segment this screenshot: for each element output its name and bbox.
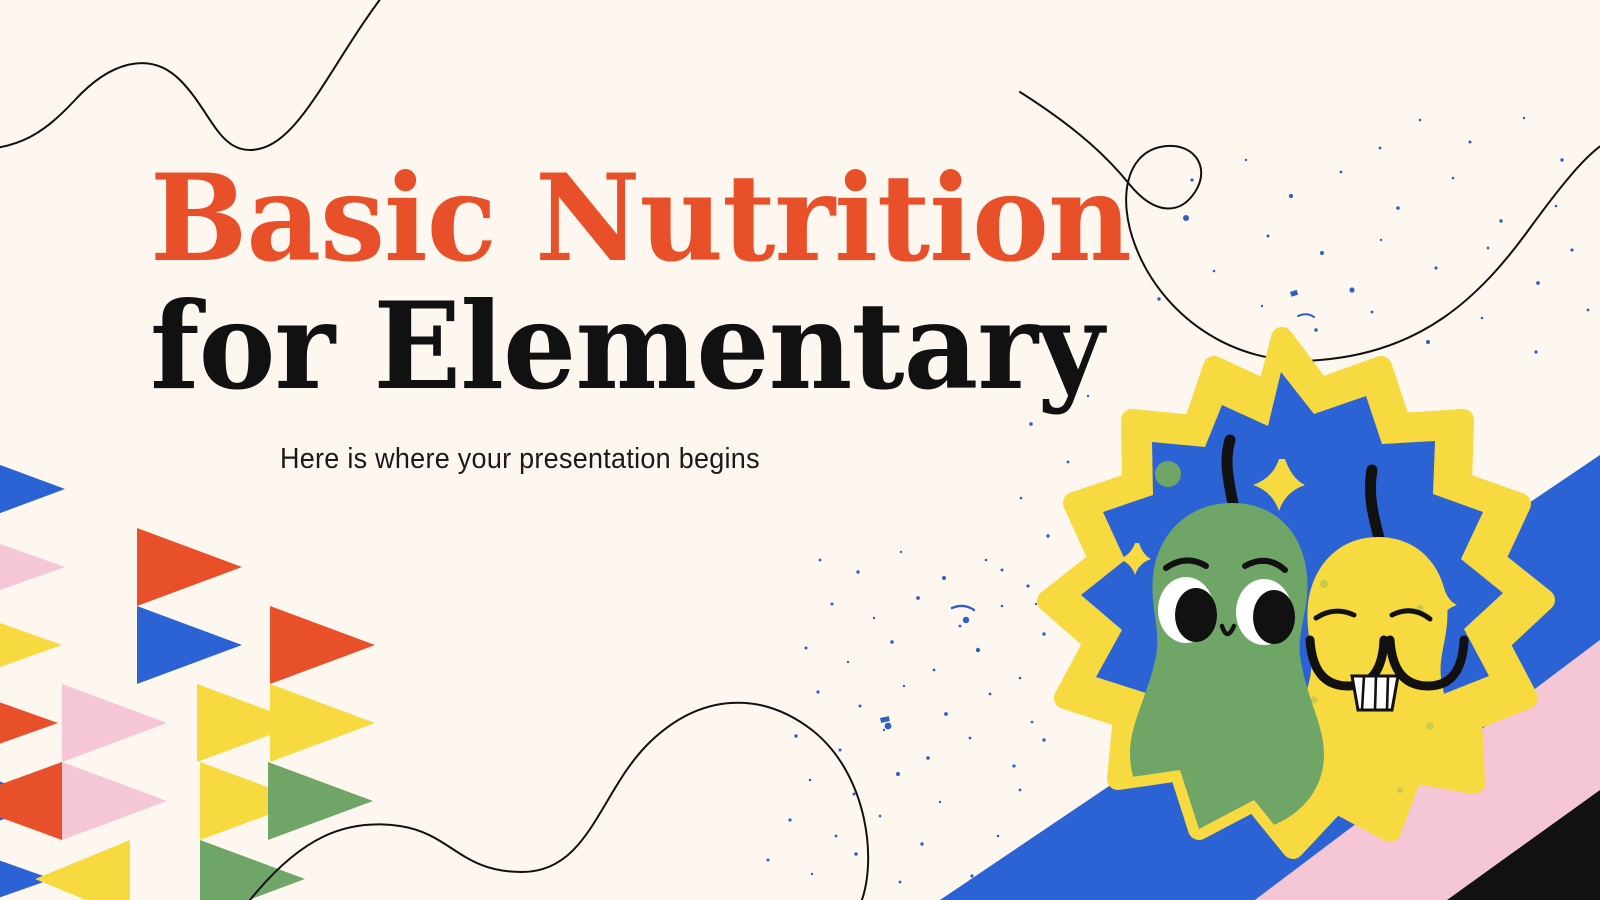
yellow-pear-teeth bbox=[1352, 676, 1398, 710]
sparkle-icon bbox=[1253, 459, 1305, 511]
green-pear-pupil-left bbox=[1175, 588, 1217, 642]
black-corner-triangle bbox=[1447, 790, 1600, 900]
bottom-center-wave-icon bbox=[250, 703, 868, 900]
green-pear-mouth bbox=[1222, 626, 1234, 634]
yellow-pear-eye-right bbox=[1390, 640, 1464, 686]
triangle-cell bbox=[0, 606, 62, 684]
triangle-cell bbox=[62, 762, 167, 840]
green-pear-pupil-right bbox=[1253, 590, 1295, 644]
yellow-pear-eye-left bbox=[1310, 640, 1384, 686]
triangle-cell bbox=[0, 684, 58, 762]
pink-diagonal-band bbox=[1255, 640, 1600, 900]
triangle-cell bbox=[0, 762, 62, 840]
green-pear-body bbox=[1130, 503, 1324, 834]
badge-dot bbox=[1155, 461, 1181, 487]
badge-dot bbox=[1276, 727, 1300, 751]
triangle-cell bbox=[35, 840, 130, 900]
title-block: Basic Nutrition for Elementary Here is w… bbox=[150, 160, 1050, 476]
page-title-line-1: Basic Nutrition bbox=[150, 160, 1014, 278]
badge-star-border bbox=[1048, 338, 1544, 848]
green-pear-character bbox=[1130, 440, 1324, 834]
blue-diagonal-band bbox=[940, 455, 1600, 900]
yellow-pear-eyebrow-right bbox=[1392, 611, 1430, 619]
triangle-cell bbox=[0, 450, 65, 528]
triangle-cell bbox=[62, 684, 167, 762]
green-pear-eyebrow-right bbox=[1245, 561, 1285, 570]
yellow-pear-eyebrow-left bbox=[1316, 611, 1354, 618]
green-pear-eye-white-left bbox=[1158, 577, 1214, 643]
sparkle-icon bbox=[1119, 543, 1151, 575]
sparkle-icon bbox=[1423, 588, 1457, 622]
yellow-pear-stem bbox=[1370, 470, 1379, 538]
presentation-slide: Basic Nutrition for Elementary Here is w… bbox=[0, 0, 1600, 900]
page-title-line-2: for Elementary bbox=[150, 288, 1014, 406]
triangle-cell bbox=[0, 762, 55, 840]
triangle-cell bbox=[200, 840, 305, 900]
subtitle-text: Here is where your presentation begins bbox=[280, 443, 996, 476]
green-pear-stem bbox=[1227, 440, 1233, 504]
triangle-cell bbox=[270, 606, 375, 684]
triangle-cell bbox=[137, 528, 242, 606]
green-pear-eyebrow-left bbox=[1166, 560, 1206, 568]
badge-star-inner bbox=[1081, 372, 1503, 803]
green-pear-eye-white-right bbox=[1236, 579, 1292, 645]
sparkle-icon bbox=[1201, 725, 1227, 751]
triangle-cell bbox=[197, 684, 302, 762]
triangle-cell bbox=[270, 684, 375, 762]
triangle-cell bbox=[137, 606, 242, 684]
yellow-pear-character bbox=[1285, 470, 1464, 842]
sparkle-icon bbox=[1017, 733, 1043, 759]
triangle-grid bbox=[0, 450, 375, 900]
yellow-pear-body bbox=[1285, 537, 1463, 842]
triangle-cell bbox=[0, 840, 52, 900]
triangle-cell bbox=[268, 762, 373, 840]
top-left-wave-icon bbox=[0, 0, 395, 150]
triangle-cell bbox=[200, 762, 305, 840]
triangle-cell bbox=[0, 528, 65, 606]
